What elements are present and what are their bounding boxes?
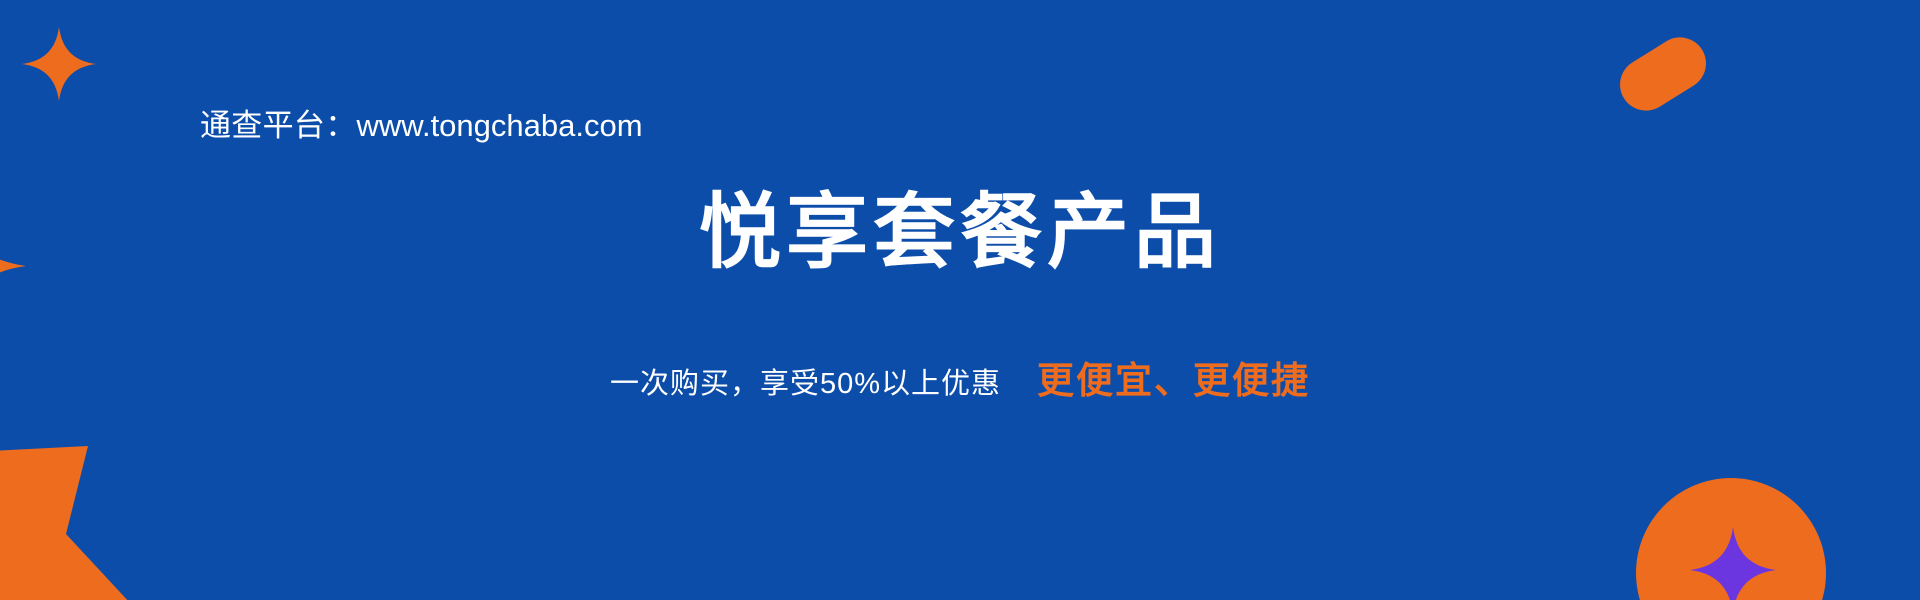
page-title: 悦享套餐产品 xyxy=(0,190,1920,276)
platform-url-line: 通查平台：www.tongchaba.com xyxy=(200,107,643,144)
subtitle-line: 一次购买，享受50%以上优惠更便宜、更便捷 xyxy=(0,357,1920,405)
content-layer: 通查平台：www.tongchaba.com 悦享套餐产品 一次购买，享受50%… xyxy=(0,0,1920,600)
subtitle-highlight-text: 更便宜、更便捷 xyxy=(1037,360,1310,401)
promo-banner: 通查平台：www.tongchaba.com 悦享套餐产品 一次购买，享受50%… xyxy=(0,0,1920,600)
platform-label: 通查平台： xyxy=(200,108,357,143)
platform-url[interactable]: www.tongchaba.com xyxy=(357,108,643,143)
subtitle-plain-text: 一次购买，享受50%以上优惠 xyxy=(610,368,1001,400)
